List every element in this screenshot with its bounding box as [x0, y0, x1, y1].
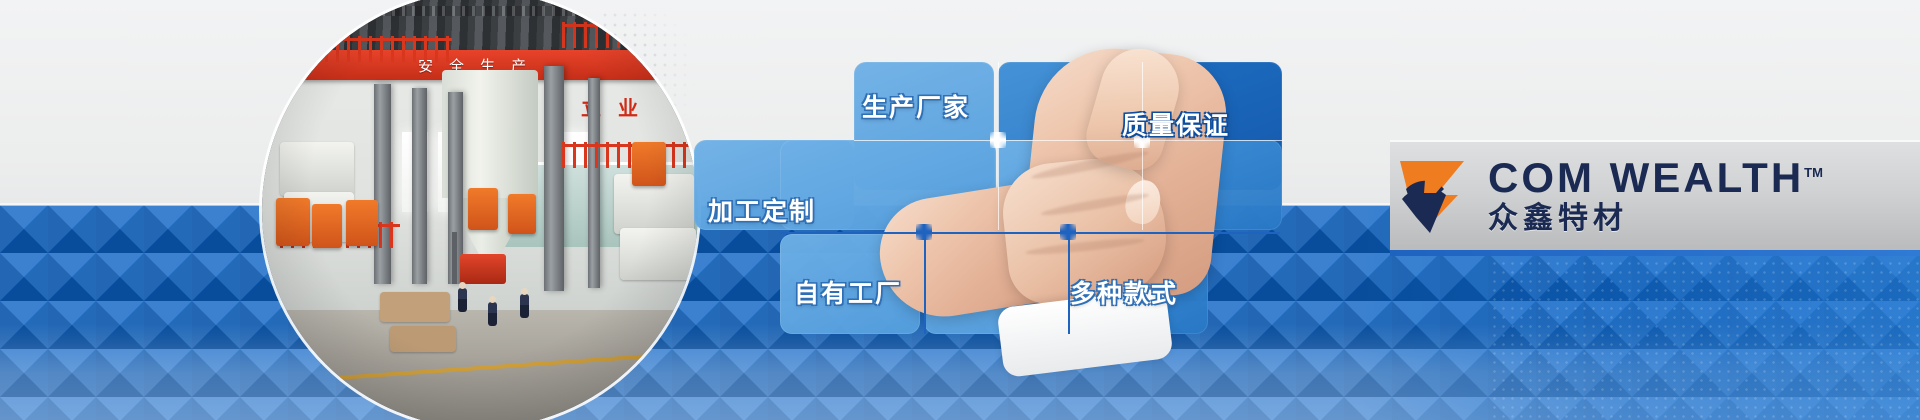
tile-label-quality-assurance: 质量保证 — [1122, 106, 1230, 142]
tile-blank-r3c2[interactable] — [924, 234, 1064, 334]
tile-blank-r2c3[interactable] — [1142, 140, 1282, 230]
brand-logo-plate[interactable]: COM WEALTHTM 众鑫特材 — [1390, 140, 1920, 250]
trademark-symbol: TM — [1804, 165, 1823, 180]
com-wealth-mark-icon — [1396, 155, 1474, 235]
tile-label-multiple-styles: 多种款式 — [1070, 274, 1178, 310]
feature-tile-grid — [780, 0, 1480, 420]
brand-name-chinese: 众鑫特材 — [1488, 204, 1823, 234]
factory-scene: 安全生产 以精立业 — [262, 0, 698, 420]
promo-banner: 安全生产 以精立业 — [0, 0, 1920, 420]
brand-name-english-text: COM WEALTH — [1488, 154, 1804, 201]
tile-label-production-manufacturer: 生产厂家 — [862, 88, 970, 124]
brand-name-english: COM WEALTHTM — [1488, 157, 1823, 199]
photo-vignette — [262, 0, 698, 420]
tile-blank-r2c2[interactable] — [998, 140, 1138, 230]
brand-text: COM WEALTHTM 众鑫特材 — [1488, 157, 1823, 234]
tile-label-own-factory: 自有工厂 — [794, 274, 902, 310]
tile-label-custom-processing: 加工定制 — [708, 192, 816, 228]
factory-photo: 安全生产 以精立业 — [262, 0, 698, 420]
logo-accent-bar — [1390, 250, 1920, 256]
